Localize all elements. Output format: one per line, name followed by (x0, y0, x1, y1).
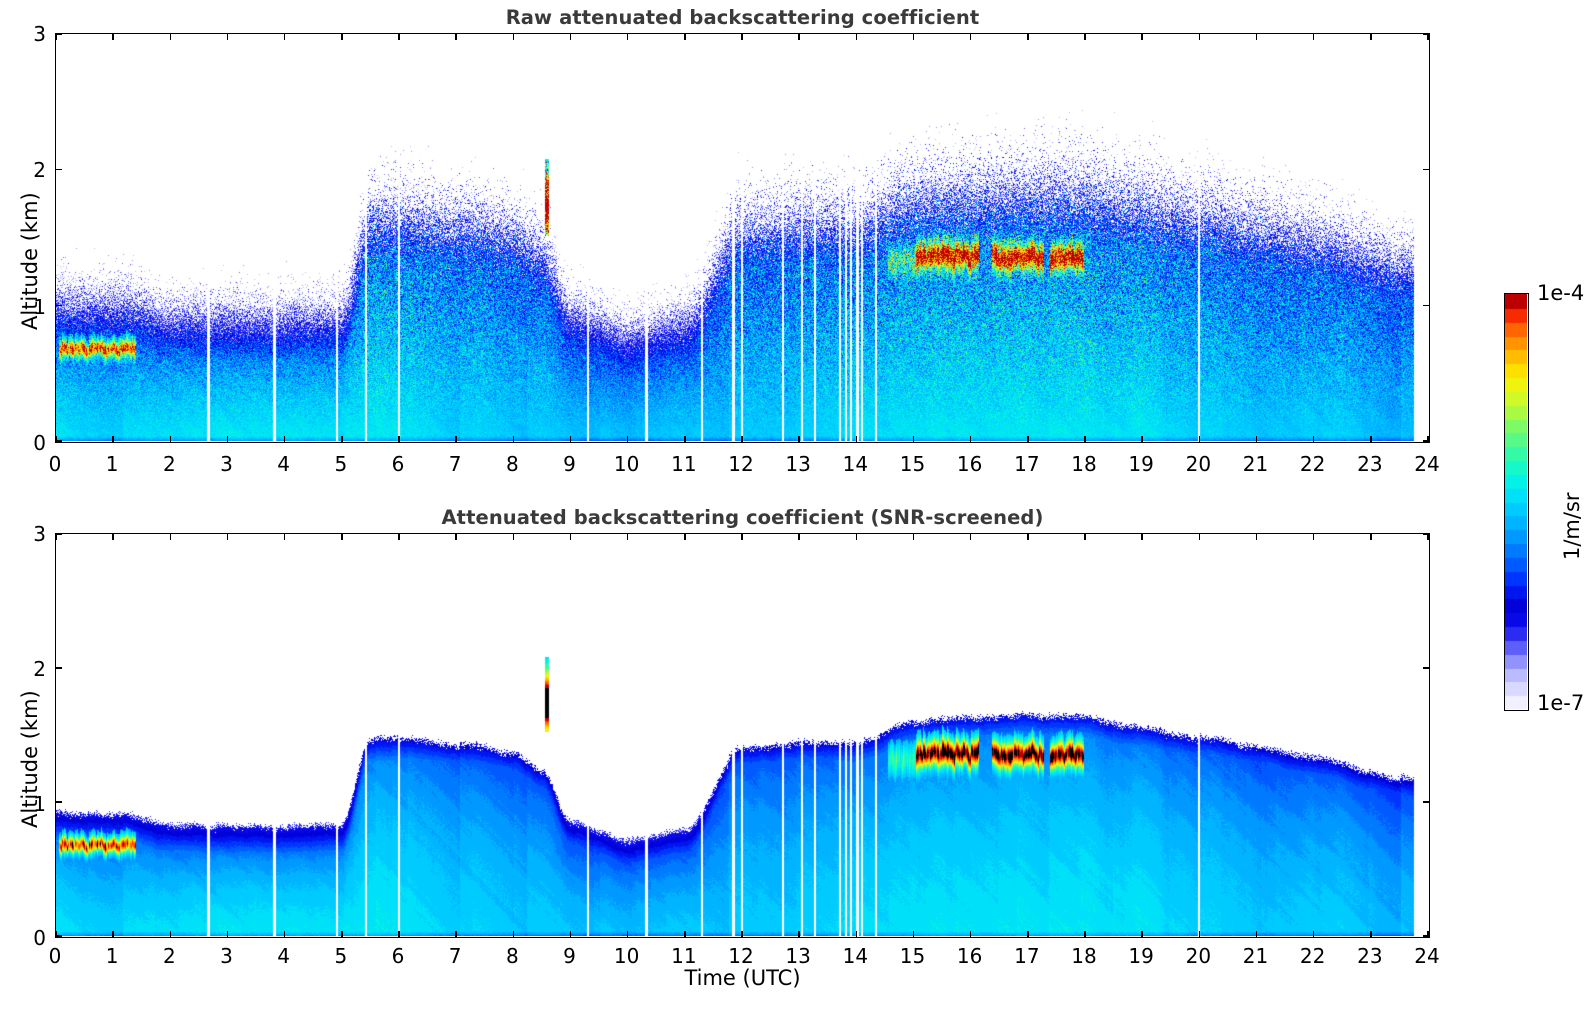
raw-xticklabel-9: 9 (545, 452, 595, 476)
scr-xtick-21 (1256, 931, 1258, 937)
panel-title-raw: Raw attenuated backscattering coefficien… (55, 6, 1430, 29)
raw-xtick-23 (1370, 436, 1372, 442)
raw-xticklabel-24: 24 (1402, 452, 1452, 476)
scr-xtick-top-11 (684, 534, 686, 540)
colorbar-tick-max: 1e-4 (1537, 281, 1584, 305)
plot-area-screened[interactable] (55, 533, 1430, 938)
yaxis-label-raw: Altitude (km) (18, 192, 42, 330)
scr-xticklabel-15: 15 (888, 944, 938, 968)
raw-xtick-20 (1199, 436, 1201, 442)
raw-xtick-top-11 (684, 34, 686, 40)
scr-xticklabel-17: 17 (1002, 944, 1052, 968)
scr-xtick-top-14 (856, 534, 858, 540)
raw-xticklabel-13: 13 (773, 452, 823, 476)
raw-xtick-top-8 (513, 34, 515, 40)
scr-xtick-top-24 (1427, 534, 1429, 540)
scr-ytick-right-1 (1423, 801, 1429, 803)
raw-xtick-top-1 (112, 34, 114, 40)
raw-xticklabel-1: 1 (87, 452, 137, 476)
raw-xtick-14 (856, 436, 858, 442)
scr-xtick-7 (455, 931, 457, 937)
scr-xtick-top-16 (970, 534, 972, 540)
raw-xtick-top-20 (1199, 34, 1201, 40)
scr-xtick-19 (1141, 931, 1143, 937)
raw-xtick-6 (398, 436, 400, 442)
raw-xticklabel-21: 21 (1231, 452, 1281, 476)
scr-xticklabel-13: 13 (773, 944, 823, 968)
raw-xtick-13 (798, 436, 800, 442)
scr-xtick-top-2 (170, 534, 172, 540)
raw-ytick-2 (56, 169, 62, 171)
scr-xticklabel-1: 1 (87, 944, 137, 968)
raw-xtick-top-17 (1027, 34, 1029, 40)
raw-xticklabel-19: 19 (1116, 452, 1166, 476)
raw-xtick-top-14 (856, 34, 858, 40)
scr-xticklabel-8: 8 (487, 944, 537, 968)
raw-ytick-right-0 (1423, 440, 1429, 442)
raw-xtick-top-4 (284, 34, 286, 40)
raw-xticklabel-3: 3 (202, 452, 252, 476)
raw-xtick-top-7 (455, 34, 457, 40)
raw-xticklabel-18: 18 (1059, 452, 1109, 476)
scr-xticklabel-22: 22 (1288, 944, 1338, 968)
scr-xticklabel-12: 12 (716, 944, 766, 968)
scr-xtick-top-17 (1027, 534, 1029, 540)
raw-xtick-19 (1141, 436, 1143, 442)
scr-xtick-top-22 (1313, 534, 1315, 540)
raw-xtick-4 (284, 436, 286, 442)
scr-xticklabel-2: 2 (144, 944, 194, 968)
scr-xtick-22 (1313, 931, 1315, 937)
scr-xtick-top-23 (1370, 534, 1372, 540)
scr-xtick-top-6 (398, 534, 400, 540)
raw-xticklabel-5: 5 (316, 452, 366, 476)
scr-xticklabel-6: 6 (373, 944, 423, 968)
scr-xtick-20 (1199, 931, 1201, 937)
scr-xticklabel-11: 11 (659, 944, 709, 968)
raw-xtick-top-23 (1370, 34, 1372, 40)
scr-xticklabel-5: 5 (316, 944, 366, 968)
raw-xtick-2 (170, 436, 172, 442)
raw-xtick-top-5 (341, 34, 343, 40)
raw-xtick-top-12 (741, 34, 743, 40)
raw-xtick-22 (1313, 436, 1315, 442)
scr-xtick-top-18 (1084, 534, 1086, 540)
scr-xticklabel-0: 0 (30, 944, 80, 968)
raw-xtick-top-16 (970, 34, 972, 40)
raw-xtick-21 (1256, 436, 1258, 442)
raw-xtick-top-10 (627, 34, 629, 40)
scr-xticklabel-10: 10 (602, 944, 652, 968)
raw-xticklabel-8: 8 (487, 452, 537, 476)
scr-xtick-top-21 (1256, 534, 1258, 540)
scr-ytick-3 (56, 533, 62, 535)
raw-xtick-8 (513, 436, 515, 442)
raw-xticklabel-4: 4 (259, 452, 309, 476)
raw-xtick-9 (570, 436, 572, 442)
scr-xtick-15 (913, 931, 915, 937)
raw-xtick-top-19 (1141, 34, 1143, 40)
scr-xtick-14 (856, 931, 858, 937)
scr-xtick-3 (227, 931, 229, 937)
raw-xtick-top-0 (55, 34, 57, 40)
scr-xticklabel-24: 24 (1402, 944, 1452, 968)
raw-xticklabel-0: 0 (30, 452, 80, 476)
scr-xtick-top-3 (227, 534, 229, 540)
raw-xtick-7 (455, 436, 457, 442)
raw-xticklabel-14: 14 (830, 452, 880, 476)
raw-xticklabel-15: 15 (888, 452, 938, 476)
raw-xticklabel-12: 12 (716, 452, 766, 476)
scr-xticklabel-21: 21 (1231, 944, 1281, 968)
scr-ytick-0 (56, 935, 62, 937)
raw-xticklabel-23: 23 (1345, 452, 1395, 476)
colorbar[interactable] (1504, 293, 1529, 711)
raw-xtick-top-3 (227, 34, 229, 40)
scr-xtick-top-0 (55, 534, 57, 540)
scr-xtick-4 (284, 931, 286, 937)
raw-ytick-right-2 (1423, 169, 1429, 171)
raw-ytick-right-1 (1423, 305, 1429, 307)
scr-xtick-top-8 (513, 534, 515, 540)
raw-ytick-0 (56, 440, 62, 442)
raw-xticklabel-6: 6 (373, 452, 423, 476)
raw-xtick-top-9 (570, 34, 572, 40)
ytick-scr-2: 2 (14, 657, 46, 681)
raw-xtick-top-18 (1084, 34, 1086, 40)
scr-xticklabel-18: 18 (1059, 944, 1109, 968)
scr-xticklabel-4: 4 (259, 944, 309, 968)
scr-xtick-9 (570, 931, 572, 937)
raw-xtick-16 (970, 436, 972, 442)
raw-xtick-top-13 (798, 34, 800, 40)
heatmap-canvas-raw (56, 34, 1428, 441)
scr-xtick-top-10 (627, 534, 629, 540)
scr-xtick-5 (341, 931, 343, 937)
panel-title-screened: Attenuated backscattering coefficient (S… (55, 506, 1430, 529)
raw-xticklabel-16: 16 (945, 452, 995, 476)
yaxis-label-screened: Altitude (km) (18, 690, 42, 828)
raw-xtick-11 (684, 436, 686, 442)
scr-xtick-top-19 (1141, 534, 1143, 540)
scr-xtick-top-7 (455, 534, 457, 540)
scr-xticklabel-14: 14 (830, 944, 880, 968)
scr-xtick-23 (1370, 931, 1372, 937)
scr-xticklabel-9: 9 (545, 944, 595, 968)
scr-ytick-1 (56, 801, 62, 803)
scr-xtick-8 (513, 931, 515, 937)
raw-xtick-top-21 (1256, 34, 1258, 40)
scr-xtick-2 (170, 931, 172, 937)
scr-ytick-right-2 (1423, 667, 1429, 669)
raw-xticklabel-17: 17 (1002, 452, 1052, 476)
raw-xtick-12 (741, 436, 743, 442)
raw-xtick-15 (913, 436, 915, 442)
raw-xticklabel-10: 10 (602, 452, 652, 476)
scr-xtick-16 (970, 931, 972, 937)
scr-xtick-6 (398, 931, 400, 937)
scr-xtick-top-12 (741, 534, 743, 540)
scr-ytick-2 (56, 667, 62, 669)
ytick-scr-3: 3 (14, 522, 46, 546)
scr-ytick-right-3 (1423, 533, 1429, 535)
raw-xtick-top-22 (1313, 34, 1315, 40)
scr-xtick-top-1 (112, 534, 114, 540)
raw-xticklabel-2: 2 (144, 452, 194, 476)
raw-xtick-top-6 (398, 34, 400, 40)
raw-xticklabel-11: 11 (659, 452, 709, 476)
colorbar-unit-label: 1/m/sr (1560, 492, 1584, 560)
scr-xtick-top-4 (284, 534, 286, 540)
scr-xtick-1 (112, 931, 114, 937)
scr-xticklabel-19: 19 (1116, 944, 1166, 968)
raw-xtick-top-2 (170, 34, 172, 40)
scr-xticklabel-23: 23 (1345, 944, 1395, 968)
raw-xticklabel-7: 7 (430, 452, 480, 476)
scr-xtick-top-20 (1199, 534, 1201, 540)
raw-xtick-5 (341, 436, 343, 442)
raw-ytick-right-3 (1423, 33, 1429, 35)
scr-xticklabel-7: 7 (430, 944, 480, 968)
xaxis-label-time: Time (UTC) (0, 966, 1485, 990)
raw-xticklabel-22: 22 (1288, 452, 1338, 476)
scr-xtick-18 (1084, 931, 1086, 937)
raw-ytick-3 (56, 33, 62, 35)
ytick-raw-3: 3 (14, 22, 46, 46)
scr-xtick-13 (798, 931, 800, 937)
scr-ytick-right-0 (1423, 935, 1429, 937)
raw-xtick-1 (112, 436, 114, 442)
raw-ytick-1 (56, 305, 62, 307)
scr-xtick-10 (627, 931, 629, 937)
raw-xtick-top-15 (913, 34, 915, 40)
scr-xtick-top-5 (341, 534, 343, 540)
colorbar-tick-min: 1e-7 (1537, 691, 1584, 715)
scr-xticklabel-3: 3 (202, 944, 252, 968)
raw-xtick-18 (1084, 436, 1086, 442)
raw-xtick-top-24 (1427, 34, 1429, 40)
raw-xtick-3 (227, 436, 229, 442)
scr-xtick-top-15 (913, 534, 915, 540)
scr-xtick-top-9 (570, 534, 572, 540)
colorbar-canvas (1505, 294, 1527, 709)
scr-xtick-11 (684, 931, 686, 937)
scr-xtick-17 (1027, 931, 1029, 937)
scr-xtick-12 (741, 931, 743, 937)
ytick-raw-2: 2 (14, 158, 46, 182)
raw-xtick-10 (627, 436, 629, 442)
scr-xticklabel-16: 16 (945, 944, 995, 968)
raw-xticklabel-20: 20 (1173, 452, 1223, 476)
scr-xtick-top-13 (798, 534, 800, 540)
heatmap-canvas-screened (56, 534, 1428, 936)
raw-xtick-17 (1027, 436, 1029, 442)
plot-area-raw[interactable] (55, 33, 1430, 443)
scr-xticklabel-20: 20 (1173, 944, 1223, 968)
